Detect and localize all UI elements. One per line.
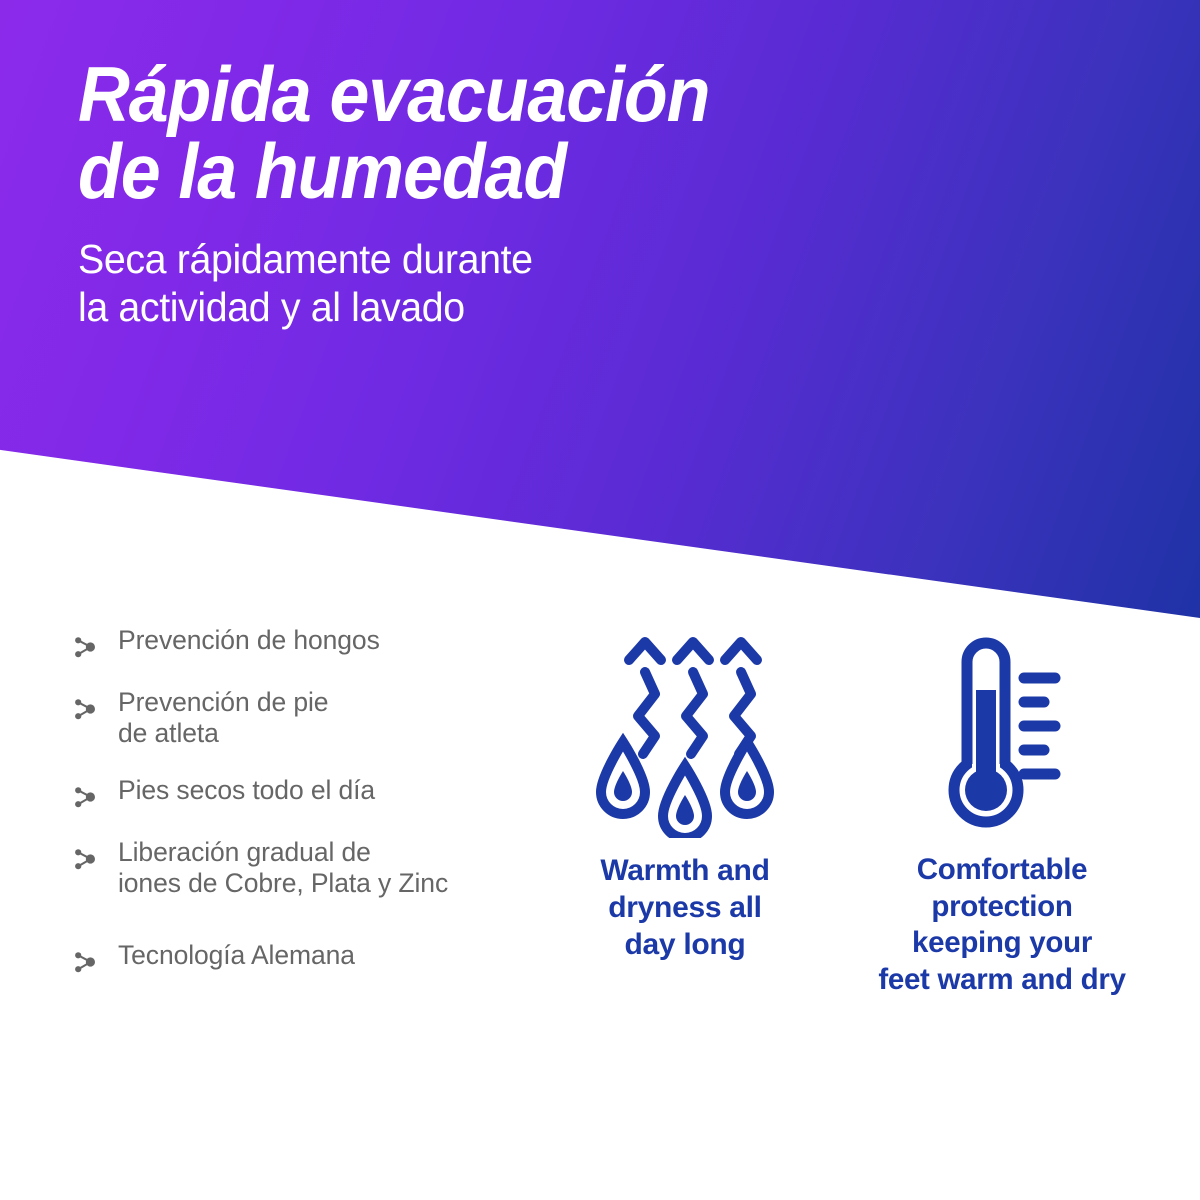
share-node-icon [70,632,100,662]
share-node-icon [70,844,100,874]
water-droplet-icon [725,742,769,814]
benefits-list: Prevención de hongos Prevención de pie d… [70,625,570,977]
share-node-icon [70,694,100,724]
lower-content-area: Prevención de hongos Prevención de pie d… [0,618,1200,1200]
feature-moisture: Warmth and dryness all day long [556,628,814,964]
feature-caption: Warmth and dryness all day long [556,852,814,964]
list-item: Tecnología Alemana [70,940,570,977]
page-title: Rápida evacuación de la humedad [78,56,980,210]
list-item-label: Tecnología Alemana [118,940,355,971]
list-item-label: Liberación gradual de iones de Cobre, Pl… [118,837,448,900]
water-droplet-icon [663,766,707,838]
share-node-icon [70,782,100,812]
share-node-icon [70,947,100,977]
list-item: Liberación gradual de iones de Cobre, Pl… [70,837,570,900]
feature-thermometer: Comfortable protection keeping your feet… [852,628,1152,998]
infographic-poster: Rápida evacuación de la humedad Seca ráp… [0,0,1200,1200]
feature-caption: Comfortable protection keeping your feet… [852,852,1152,998]
hero-text-block: Rápida evacuación de la humedad Seca ráp… [78,56,1058,332]
list-item-label: Prevención de hongos [118,625,380,656]
thermometer-icon [927,628,1077,838]
page-subtitle: Seca rápidamente durante la actividad y … [78,236,1019,332]
list-item-label: Pies secos todo el día [118,775,375,806]
list-item: Pies secos todo el día [70,775,570,812]
feature-art [852,628,1152,838]
list-item: Prevención de pie de atleta [70,687,570,750]
moisture-droplets-vapor-icon [593,628,778,838]
feature-art [556,628,814,838]
list-item-label: Prevención de pie de atleta [118,687,328,750]
list-item: Prevención de hongos [70,625,570,662]
